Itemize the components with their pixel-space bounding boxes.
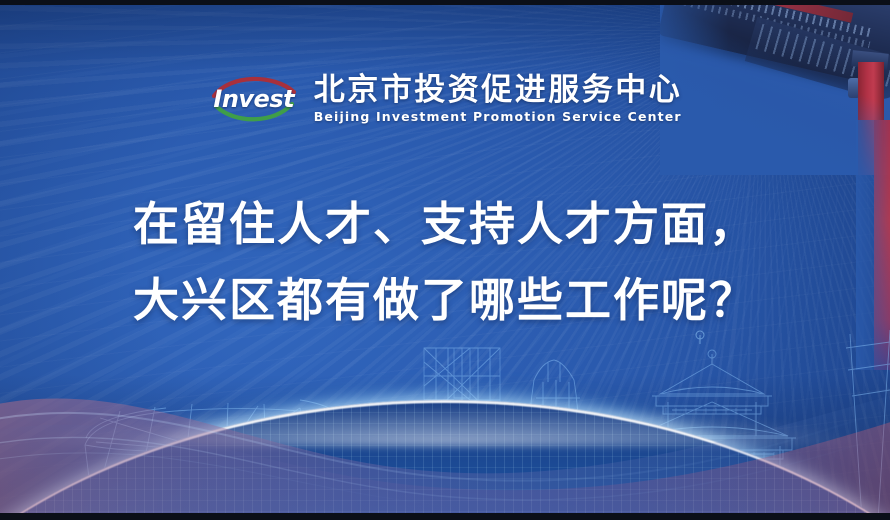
brand-header: Invest 北京市投资促进服务中心 Beijing Investment Pr… (0, 72, 890, 126)
headline-block: 在留住人才、支持人才方面， 大兴区都有做了哪些工作呢？ (0, 186, 890, 338)
letterbox-bar-bottom (0, 513, 890, 520)
letterbox-bar-top (0, 0, 890, 5)
logo-wordmark: Invest (208, 85, 300, 113)
brand-name-english: Beijing Investment Promotion Service Cen… (314, 109, 683, 124)
brand-name-chinese: 北京市投资促进服务中心 (314, 74, 683, 107)
flowing-ribbon-waves (0, 330, 890, 520)
headline-line-1: 在留住人才、支持人才方面， (0, 186, 890, 262)
headline-line-2: 大兴区都有做了哪些工作呢？ (0, 262, 890, 338)
invest-beijing-logo: Invest (208, 72, 300, 126)
brand-text-block: 北京市投资促进服务中心 Beijing Investment Promotion… (314, 74, 683, 125)
title-card: Invest 北京市投资促进服务中心 Beijing Investment Pr… (0, 0, 890, 520)
